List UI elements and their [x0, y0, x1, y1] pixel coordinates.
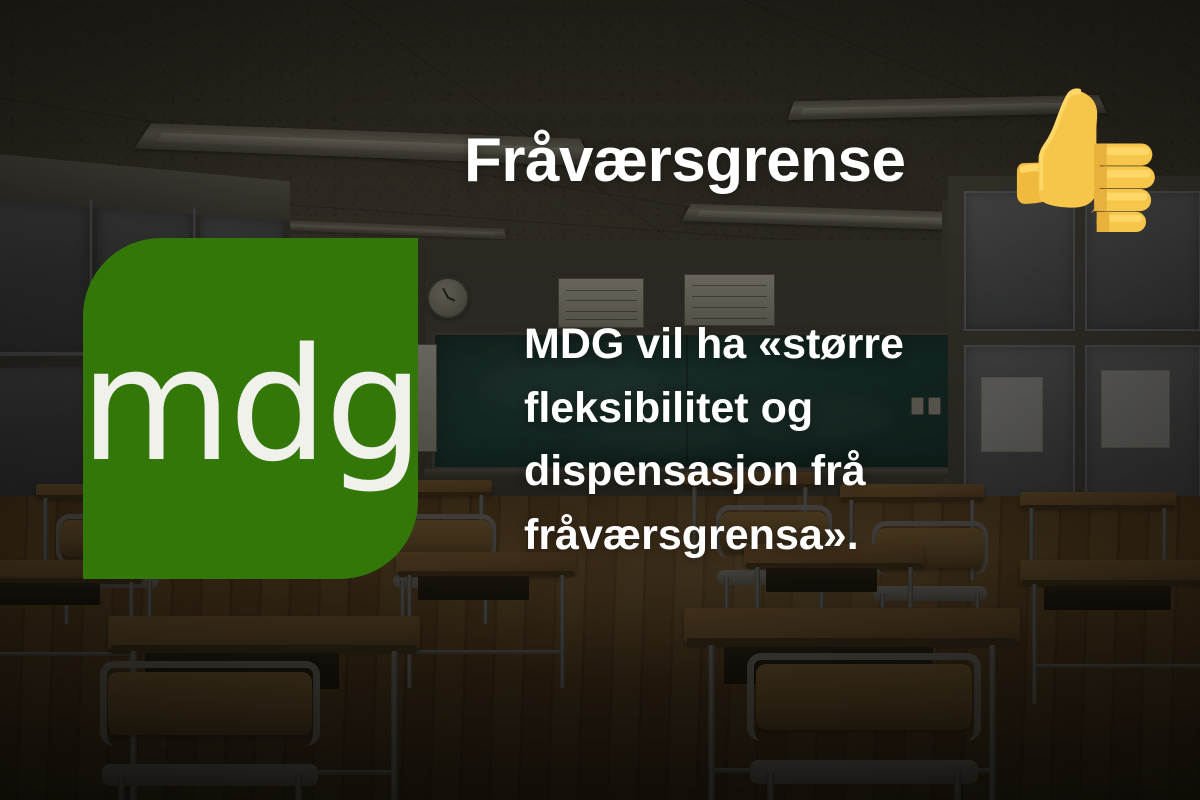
mdg-wordmark: mdg	[80, 327, 421, 483]
mdg-logo-card: mdg	[83, 238, 418, 579]
overlay-layer: mdg Fråværsgrense MDG vil ha «større fle…	[0, 0, 1200, 800]
image-canvas: mdg Fråværsgrense MDG vil ha «større fle…	[0, 0, 1200, 800]
headline-text: Fråværsgrense	[464, 128, 906, 193]
body-quote-text: MDG vil ha «større fleksibilitet og disp…	[524, 313, 1014, 568]
thumbs-up-icon	[1003, 77, 1165, 239]
